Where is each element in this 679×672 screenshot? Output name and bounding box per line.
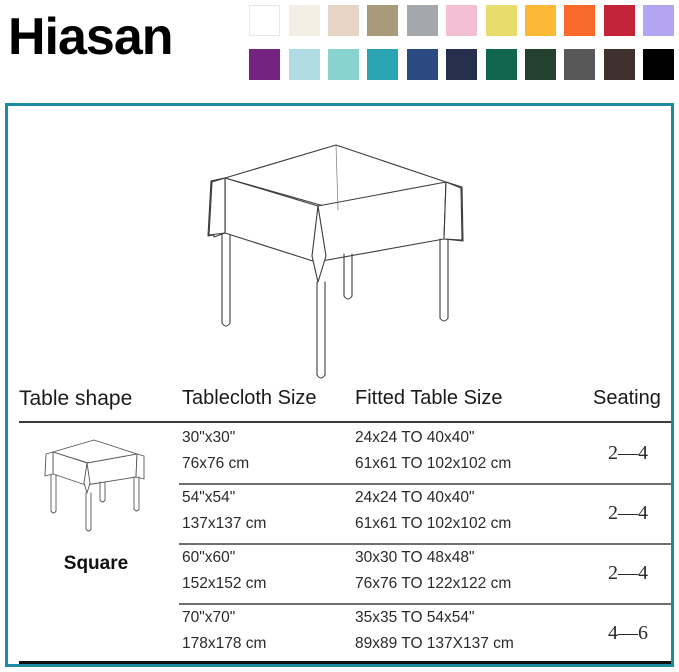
cell-tablecloth-size: 54"x54"137x137 cm <box>182 483 350 543</box>
page-header: Hiasan <box>0 0 679 96</box>
tablecloth-size-inches: 60"x60" <box>182 549 235 567</box>
color-swatch-navy[interactable] <box>446 49 477 80</box>
column-header-fitted-table-size: Fitted Table Size <box>355 387 503 410</box>
swatch-cell-dark-green[interactable] <box>521 48 560 81</box>
table-row: 54"x54"137x137 cm24x24 TO 40x40"61x61 TO… <box>8 483 671 543</box>
color-swatch-teal[interactable] <box>367 49 398 80</box>
swatch-cell-dark-brown[interactable] <box>600 48 639 81</box>
fitted-table-size-cm: 61x61 TO 102x102 cm <box>355 455 511 473</box>
column-header-seating: Seating <box>593 387 661 410</box>
color-swatch-dark-brown[interactable] <box>604 49 635 80</box>
swatch-cell-pink[interactable] <box>442 4 481 37</box>
color-swatch-aqua[interactable] <box>328 49 359 80</box>
table-header-row: Table shape Tablecloth Size Fitted Table… <box>8 385 671 423</box>
swatch-cell-navy[interactable] <box>442 48 481 81</box>
table-row: 30"x30"76x76 cm24x24 TO 40x40"61x61 TO 1… <box>8 423 671 483</box>
color-swatch-light-blue[interactable] <box>289 49 320 80</box>
color-swatch-panel <box>245 0 679 90</box>
table-body: 30"x30"76x76 cm24x24 TO 40x40"61x61 TO 1… <box>8 423 671 664</box>
tablecloth-size-inches: 30"x30" <box>182 429 235 447</box>
size-spec-table: Table shape Tablecloth Size Fitted Table… <box>8 385 671 664</box>
card-inner: Table shape Tablecloth Size Fitted Table… <box>8 106 671 664</box>
color-swatch-grey[interactable] <box>407 5 438 36</box>
color-swatch-white[interactable] <box>249 5 280 36</box>
swatch-cell-purple[interactable] <box>245 48 284 81</box>
swatch-cell-white[interactable] <box>245 4 284 37</box>
fitted-table-size-inches: 24x24 TO 40x40" <box>355 429 475 447</box>
swatch-cell-denim-blue[interactable] <box>403 48 442 81</box>
color-swatch-orange[interactable] <box>564 5 595 36</box>
cell-fitted-table-size: 24x24 TO 40x40"61x61 TO 102x102 cm <box>355 483 585 543</box>
hero-table-illustration <box>178 136 498 386</box>
swatch-cell-aqua[interactable] <box>324 48 363 81</box>
color-swatch-purple[interactable] <box>249 49 280 80</box>
table-row: 70"x70"178x178 cm35x35 TO 54x54"89x89 TO… <box>8 603 671 663</box>
color-swatch-ivory[interactable] <box>289 5 320 36</box>
swatch-cell-teal[interactable] <box>363 48 402 81</box>
cell-seating: 4—6 <box>585 603 671 663</box>
color-swatch-golden-yellow[interactable] <box>525 5 556 36</box>
swatch-cell-charcoal-grey[interactable] <box>560 48 599 81</box>
swatch-cell-lavender[interactable] <box>639 4 678 37</box>
fitted-table-size-inches: 30x30 TO 48x48" <box>355 549 475 567</box>
tablecloth-size-cm: 137x137 cm <box>182 515 266 533</box>
tablecloth-size-cm: 76x76 cm <box>182 455 249 473</box>
swatch-cell-light-blue[interactable] <box>284 48 323 81</box>
tablecloth-size-cm: 152x152 cm <box>182 575 266 593</box>
color-swatch-khaki-taupe[interactable] <box>367 5 398 36</box>
color-swatch-row-2 <box>245 48 678 81</box>
fitted-table-size-cm: 61x61 TO 102x102 cm <box>355 515 511 533</box>
column-header-tablecloth-size: Tablecloth Size <box>182 387 317 410</box>
fitted-table-size-cm: 89x89 TO 137X137 cm <box>355 635 514 653</box>
swatch-cell-black[interactable] <box>639 48 678 81</box>
swatch-cell-red[interactable] <box>600 4 639 37</box>
swatch-cell-grey[interactable] <box>403 4 442 37</box>
color-swatch-row-1 <box>245 4 678 37</box>
fitted-table-size-cm: 76x76 TO 122x122 cm <box>355 575 511 593</box>
color-swatch-dark-green[interactable] <box>525 49 556 80</box>
cell-seating: 2—4 <box>585 543 671 603</box>
brand-logo: Hiasan <box>8 8 173 66</box>
table-row: 60"x60"152x152 cm30x30 TO 48x48"76x76 TO… <box>8 543 671 603</box>
color-swatch-pink[interactable] <box>446 5 477 36</box>
cell-fitted-table-size: 30x30 TO 48x48"76x76 TO 122x122 cm <box>355 543 585 603</box>
cell-seating: 2—4 <box>585 483 671 543</box>
cell-seating: 2—4 <box>585 423 671 483</box>
tablecloth-size-cm: 178x178 cm <box>182 635 266 653</box>
swatch-cell-emerald-green[interactable] <box>481 48 520 81</box>
fitted-table-size-inches: 35x35 TO 54x54" <box>355 609 475 627</box>
size-guide-card: Table shape Tablecloth Size Fitted Table… <box>5 103 674 667</box>
color-swatch-lavender[interactable] <box>643 5 674 36</box>
cell-tablecloth-size: 60"x60"152x152 cm <box>182 543 350 603</box>
swatch-cell-golden-yellow[interactable] <box>521 4 560 37</box>
cell-fitted-table-size: 35x35 TO 54x54"89x89 TO 137X137 cm <box>355 603 585 663</box>
cell-tablecloth-size: 30"x30"76x76 cm <box>182 423 350 483</box>
color-swatch-red[interactable] <box>604 5 635 36</box>
tablecloth-size-inches: 54"x54" <box>182 489 235 507</box>
cell-tablecloth-size: 70"x70"178x178 cm <box>182 603 350 663</box>
table-bottom-divider <box>19 661 671 664</box>
tablecloth-size-inches: 70"x70" <box>182 609 235 627</box>
swatch-cell-khaki-taupe[interactable] <box>363 4 402 37</box>
color-swatch-beige[interactable] <box>328 5 359 36</box>
swatch-cell-beige[interactable] <box>324 4 363 37</box>
cell-fitted-table-size: 24x24 TO 40x40"61x61 TO 102x102 cm <box>355 423 585 483</box>
color-swatch-denim-blue[interactable] <box>407 49 438 80</box>
swatch-cell-light-yellow[interactable] <box>481 4 520 37</box>
column-header-table-shape: Table shape <box>19 387 132 411</box>
color-swatch-black[interactable] <box>643 49 674 80</box>
fitted-table-size-inches: 24x24 TO 40x40" <box>355 489 475 507</box>
color-swatch-charcoal-grey[interactable] <box>564 49 595 80</box>
swatch-cell-ivory[interactable] <box>284 4 323 37</box>
color-swatch-light-yellow[interactable] <box>486 5 517 36</box>
color-swatch-emerald-green[interactable] <box>486 49 517 80</box>
swatch-cell-orange[interactable] <box>560 4 599 37</box>
